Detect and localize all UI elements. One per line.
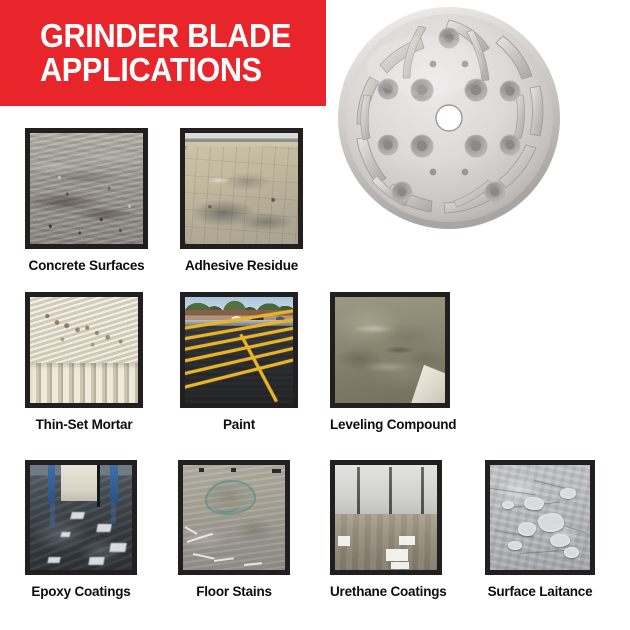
tile-label: Thin-Set Mortar xyxy=(25,417,143,432)
application-tile: Paint xyxy=(180,292,298,432)
tile-image-frame xyxy=(180,292,298,408)
grinder-blade-wheel-image xyxy=(327,6,571,244)
flaking-patches xyxy=(490,465,590,570)
tile-label: Surface Laitance xyxy=(485,584,595,599)
tile-image-frame xyxy=(330,460,442,575)
tile-image-frame xyxy=(330,292,450,408)
tile-label: Urethane Coatings xyxy=(330,584,442,599)
tile-image-frame xyxy=(25,292,143,408)
asphalt-lot xyxy=(185,326,293,403)
application-tile: Surface Laitance xyxy=(485,460,595,599)
tile-label: Adhesive Residue xyxy=(180,258,303,273)
floor-reflections xyxy=(335,465,437,570)
tile-image-frame xyxy=(180,128,303,249)
tile-image-frame xyxy=(25,128,148,249)
thin-set-mortar-photo xyxy=(30,297,138,403)
application-tile: Leveling Compound xyxy=(330,292,450,432)
application-tile: Adhesive Residue xyxy=(180,128,303,273)
tile-image-frame xyxy=(25,460,137,575)
paint-striping-photo xyxy=(185,297,293,403)
tile-label: Floor Stains xyxy=(178,584,290,599)
tile-image-frame xyxy=(178,460,290,575)
tile-image-frame xyxy=(485,460,595,575)
floor-reflections xyxy=(30,465,132,570)
application-tile: Concrete Surfaces xyxy=(25,128,148,273)
floor-stains-photo xyxy=(183,465,285,570)
leveling-board xyxy=(410,365,445,403)
white-scuff-marks xyxy=(183,465,285,570)
adhesive-residue-photo xyxy=(185,133,298,244)
tile-label: Paint xyxy=(180,417,298,432)
grinder-wheel-icon xyxy=(327,6,571,244)
application-tile: Urethane Coatings xyxy=(330,460,442,599)
concrete-surface-photo xyxy=(30,133,143,244)
epoxy-coating-photo xyxy=(30,465,132,570)
surface-laitance-photo xyxy=(490,465,590,570)
tile-label: Epoxy Coatings xyxy=(25,584,137,599)
mortar-aggregate-specks xyxy=(30,297,138,403)
tile-label: Leveling Compound xyxy=(330,417,450,432)
urethane-coating-photo xyxy=(335,465,437,570)
application-tile: Thin-Set Mortar xyxy=(25,292,143,432)
tile-label: Concrete Surfaces xyxy=(25,258,148,273)
application-tile: Floor Stains xyxy=(178,460,290,599)
yellow-stripes xyxy=(185,326,293,403)
leveling-compound-photo xyxy=(335,297,445,403)
application-tile: Epoxy Coatings xyxy=(25,460,137,599)
page-title: GRINDER BLADE APPLICATIONS xyxy=(40,19,300,87)
infographic-page: GRINDER BLADE APPLICATIONS xyxy=(0,0,630,630)
